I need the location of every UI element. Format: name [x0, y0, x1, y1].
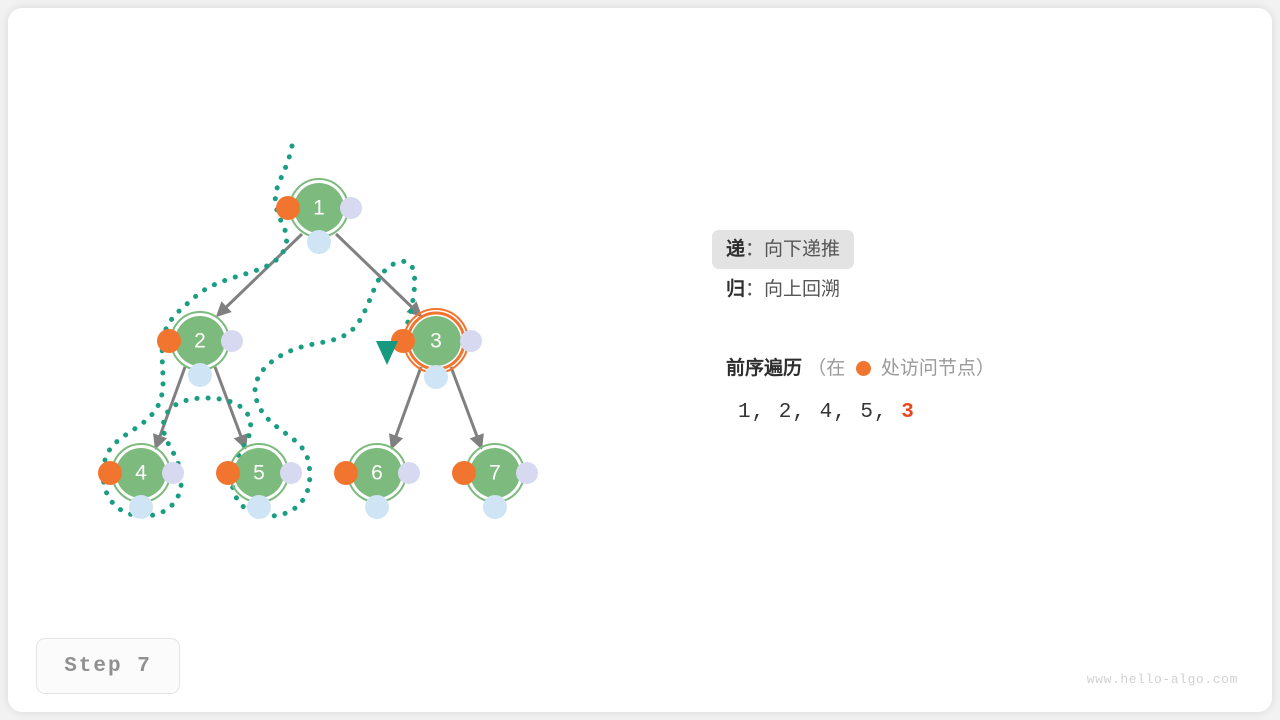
tree-node-5[interactable]: 5: [216, 444, 302, 519]
node-2-bottom-dot: [188, 363, 212, 387]
traversal-note-open: （在: [807, 358, 845, 379]
node-2-call-dot: [157, 329, 181, 353]
tree-node-6[interactable]: 6: [334, 444, 420, 519]
visit-marker-dot-icon: [856, 361, 871, 376]
traversal-title: 前序遍历 （在 处访问节点）: [726, 353, 1226, 380]
tree-nodes: 1 2 3: [98, 179, 538, 519]
node-6-bottom-dot: [365, 495, 389, 519]
node-2-right-dot: [221, 330, 243, 352]
node-5-bottom-dot: [247, 495, 271, 519]
node-6-label: 6: [371, 462, 383, 485]
step-badge: Step 7: [36, 638, 180, 694]
legend-keyword-backtrack: 归: [726, 279, 745, 300]
edge-1-3: [336, 234, 420, 315]
node-6-call-dot: [334, 461, 358, 485]
legend-text-recurse: ：向下递推: [745, 239, 840, 260]
traversal-note-close: 处访问节点）: [881, 358, 995, 379]
tree-node-7[interactable]: 7: [452, 444, 538, 519]
node-1-call-dot: [276, 196, 300, 220]
edge-3-7: [451, 367, 481, 447]
legend-row-backtrack-up: 归：向上回溯: [712, 270, 1226, 309]
node-1-bottom-dot: [307, 230, 331, 254]
traversal-sequence-current: 3: [901, 401, 915, 424]
node-4-bottom-dot: [129, 495, 153, 519]
traversal-name: 前序遍历: [726, 358, 802, 379]
tree-node-2[interactable]: 2: [157, 312, 243, 387]
traversal-sequence: 1, 2, 4, 5, 3: [738, 401, 1226, 424]
node-7-bottom-dot: [483, 495, 507, 519]
node-1-label: 1: [313, 197, 325, 220]
legend-row-recurse-down: 递：向下递推: [712, 230, 854, 269]
legend-panel: 递：向下递推 归：向上回溯 前序遍历 （在 处访问节点） 1, 2, 4, 5,…: [726, 230, 1226, 424]
node-7-label: 7: [489, 462, 501, 485]
node-5-call-dot: [216, 461, 240, 485]
node-4-right-dot: [162, 462, 184, 484]
screenshot-root: 1 2 3: [0, 0, 1280, 720]
node-6-right-dot: [398, 462, 420, 484]
node-7-right-dot: [516, 462, 538, 484]
node-3-label: 3: [430, 330, 442, 353]
node-2-label: 2: [194, 330, 206, 353]
watermark: www.hello-algo.com: [1087, 672, 1238, 687]
edge-3-6: [392, 367, 421, 447]
node-3-bottom-dot: [424, 365, 448, 389]
traversal-sequence-visited: 1, 2, 4, 5,: [738, 401, 888, 424]
tree-node-3[interactable]: 3: [376, 309, 482, 389]
tree-node-4[interactable]: 4: [98, 444, 184, 519]
legend-keyword-recurse: 递: [726, 239, 745, 260]
node-4-label: 4: [135, 462, 147, 485]
edge-2-4: [156, 367, 185, 447]
current-position-marker-icon: [376, 341, 398, 365]
node-3-right-dot: [460, 330, 482, 352]
node-5-right-dot: [280, 462, 302, 484]
edge-1-2: [218, 234, 302, 315]
node-7-call-dot: [452, 461, 476, 485]
legend-text-backtrack: ：向上回溯: [745, 279, 840, 300]
node-1-right-dot: [340, 197, 362, 219]
node-4-call-dot: [98, 461, 122, 485]
node-5-label: 5: [253, 462, 265, 485]
tree-node-1[interactable]: 1: [276, 179, 362, 254]
